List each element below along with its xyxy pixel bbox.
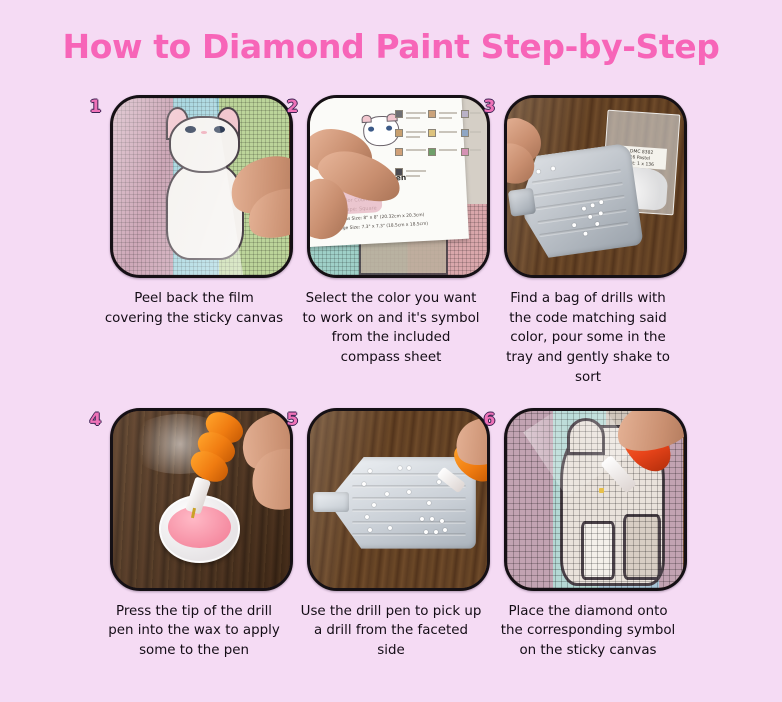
step-caption-6: Place the diamond onto the corresponding… <box>496 602 681 661</box>
step-caption-3: Find a bag of drills with the code match… <box>496 289 681 388</box>
step-number-2: 2 <box>287 97 299 117</box>
step-photo-3: DMC 8382 16 Pastel Count: 1 x 136 <box>504 95 687 278</box>
step-caption-5: Use the drill pen to pick up a drill fro… <box>299 602 484 661</box>
step-card-6: 6 <box>496 408 681 661</box>
step-card-2: 2 Pastel Kitten Drill Count: 6,084 Color… <box>299 95 484 388</box>
steps-row-top: 1 <box>0 95 782 388</box>
step-card-3: 3 DMC 8382 16 Pastel Count: 1 x 136 <box>496 95 681 388</box>
step-number-5: 5 <box>287 410 299 430</box>
step-card-5: 5 <box>299 408 484 661</box>
page-title: How to Diamond Paint Step-by-Step <box>0 27 782 66</box>
step-card-4: 4 Press the tip of the drill pen into th <box>102 408 287 661</box>
step-number-3: 3 <box>484 97 496 117</box>
step-caption-2: Select the color you want to work on and… <box>299 289 484 368</box>
step-photo-5 <box>307 408 490 591</box>
step-photo-4 <box>110 408 293 591</box>
step-photo-6 <box>504 408 687 591</box>
sheet-line-4: Image Size: 7.3" x 7.3" (18.5cm x 18.5cm… <box>335 222 429 233</box>
step-photo-2: Pastel Kitten Drill Count: 6,084 Color C… <box>307 95 490 278</box>
step-photo-1 <box>110 95 293 278</box>
step-caption-1: Peel back the film covering the sticky c… <box>102 289 287 328</box>
steps-grid: 1 <box>0 95 782 661</box>
diamond-drill <box>599 488 604 493</box>
step-number-1: 1 <box>90 97 102 117</box>
step-card-1: 1 <box>102 95 287 388</box>
step-caption-4: Press the tip of the drill pen into the … <box>102 602 287 661</box>
steps-row-bottom: 4 Press the tip of the drill pen into th <box>0 408 782 661</box>
drill-tray <box>313 457 476 549</box>
step-number-4: 4 <box>90 410 102 430</box>
step-number-6: 6 <box>484 410 496 430</box>
poster-root: How to Diamond Paint Step-by-Step 1 <box>0 0 782 702</box>
